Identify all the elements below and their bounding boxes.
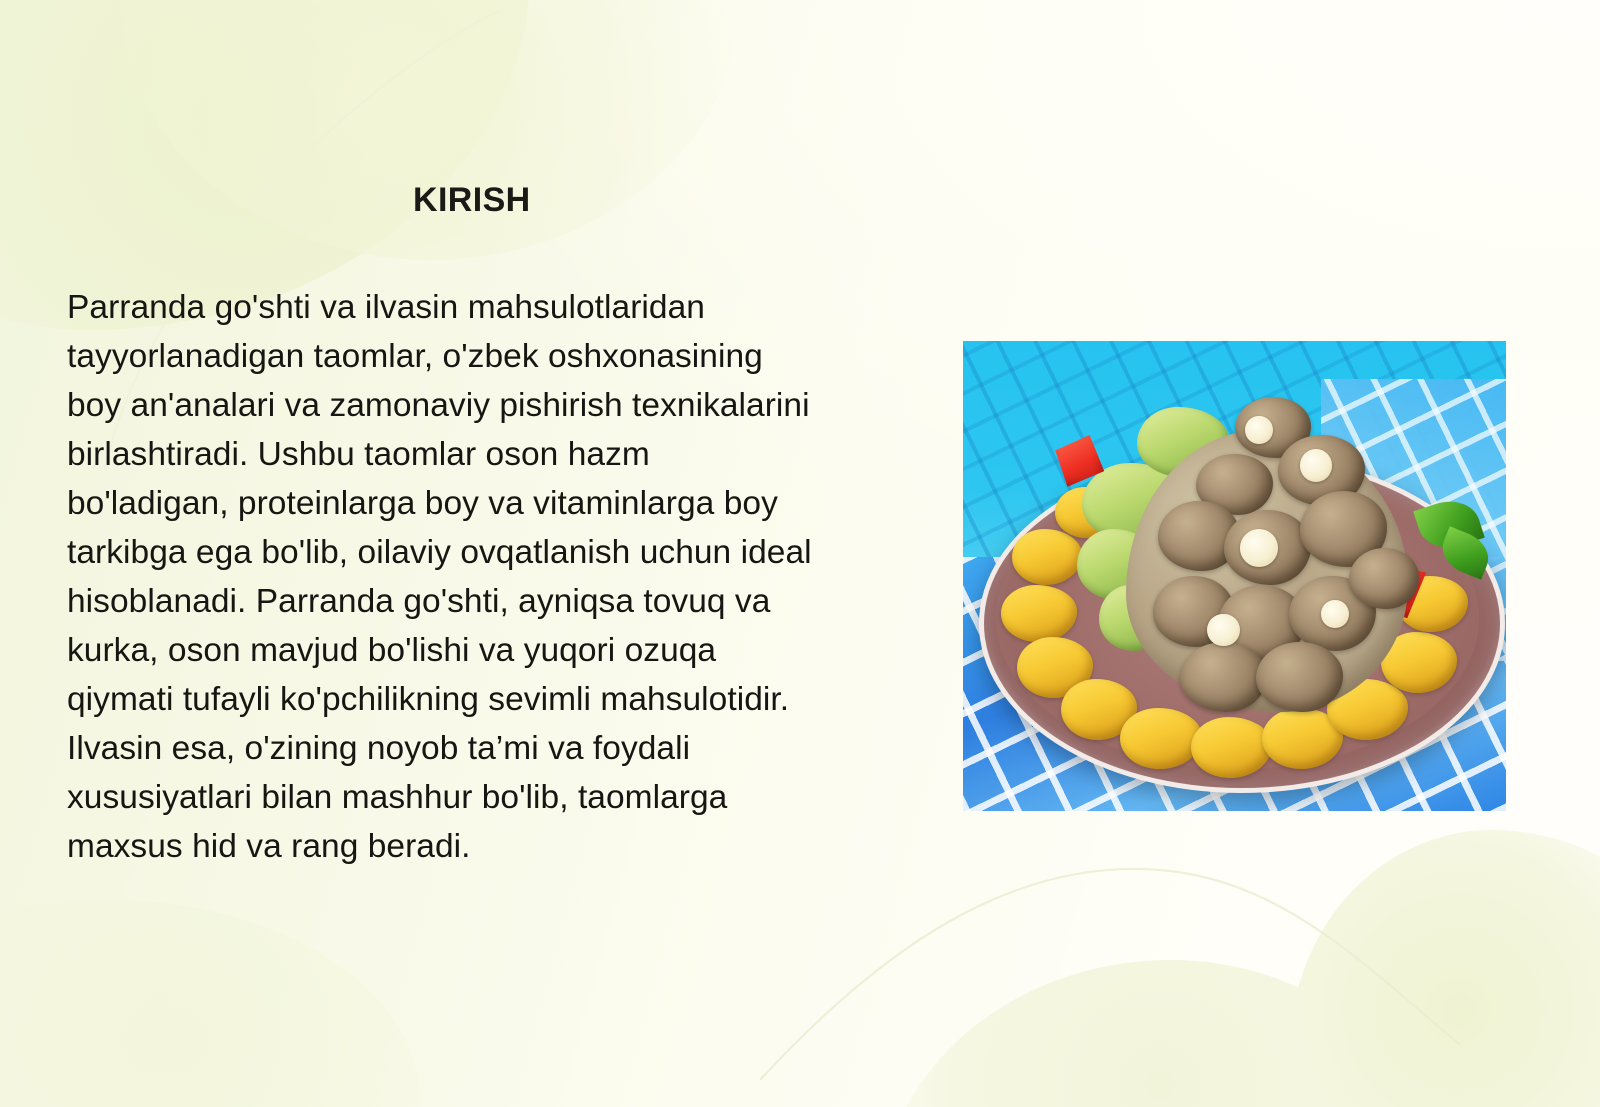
meat-roll — [1349, 548, 1420, 609]
background-curve-bottom-right — [760, 830, 1520, 1107]
quail-egg-slice — [1321, 600, 1348, 628]
background-blob-top-left-inner — [120, 0, 740, 260]
food-photo — [963, 341, 1506, 811]
slide-canvas: KIRISH Parranda go'shti va ilvasin mahsu… — [0, 0, 1600, 1107]
background-blob-top-left — [0, 0, 530, 330]
background-blob-bottom-right — [1290, 830, 1600, 1107]
background-blob-bottom-left — [0, 900, 420, 1107]
quail-egg-slice — [1300, 449, 1333, 482]
background-blob-bottom-center — [880, 960, 1440, 1107]
body-paragraph: Parranda go'shti va ilvasin mahsulotlari… — [67, 283, 907, 871]
quail-egg-slice — [1240, 529, 1278, 567]
page-title: KIRISH — [413, 182, 531, 219]
quail-egg-slice — [1207, 614, 1240, 647]
meat-roll — [1180, 642, 1267, 713]
meat-roll — [1256, 642, 1343, 713]
quail-egg-slice — [1245, 416, 1272, 444]
